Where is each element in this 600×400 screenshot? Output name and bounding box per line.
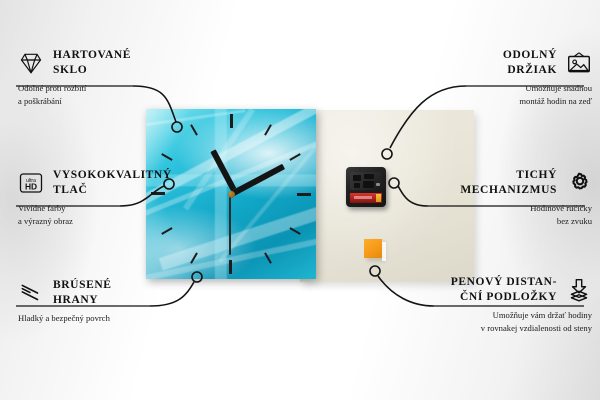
down-arrow-stack-icon bbox=[566, 277, 592, 303]
feature-ground-edges: BRÚSENÉ HRANY Hladký a bezpečný povrch bbox=[18, 278, 170, 325]
feature-description: Umožňuje vám držať hodiny v rovnakej vzd… bbox=[410, 309, 592, 333]
feature-title: VYSOKOKVALITNÝ TLAČ bbox=[53, 168, 172, 197]
feature-desc-line1: Umožňuje snadnou bbox=[525, 83, 592, 93]
feature-desc-line1: Umožňuje vám držať hodiny bbox=[493, 310, 592, 320]
diamond-icon bbox=[18, 50, 44, 76]
feature-description: Hodinové ručičky bez zvuku bbox=[426, 202, 592, 226]
feature-description: Vivídne farby a výrazný obraz bbox=[18, 202, 168, 226]
feature-desc-line1: Hladký a bezpečný povrch bbox=[18, 313, 110, 323]
feature-foam-spacers: PENOVÝ DISTAN- ČNÍ PODLOŽKY Umožňuje vám… bbox=[410, 275, 592, 334]
foam-spacer-pad bbox=[364, 239, 382, 258]
svg-text:HD: HD bbox=[25, 181, 37, 191]
picture-frame-icon bbox=[566, 50, 592, 76]
clock-center-pin bbox=[228, 191, 235, 198]
feature-title-line1: ODOLNÝ bbox=[503, 49, 557, 61]
feature-desc-line1: Hodinové ručičky bbox=[530, 203, 592, 213]
ultra-hd-icon: ultra HD bbox=[18, 170, 44, 196]
feature-desc-line2: v rovnakej vzdialenosti od steny bbox=[481, 323, 592, 333]
feature-title: ODOLNÝ DRŽIAK bbox=[503, 48, 557, 77]
feature-description: Umožňuje snadnou montáž hodin na zeď bbox=[426, 82, 592, 106]
feature-title-line2: DRŽIAK bbox=[507, 64, 557, 76]
feature-title-line2: TLAČ bbox=[53, 184, 87, 196]
movement-body bbox=[350, 172, 382, 190]
feature-desc-line1: Vivídne farby bbox=[18, 203, 65, 213]
feature-title: BRÚSENÉ HRANY bbox=[53, 278, 112, 307]
feature-title-line1: TICHÝ bbox=[516, 169, 557, 181]
feature-title: HARTOVANÉ SKLO bbox=[53, 48, 131, 77]
aa-battery bbox=[350, 193, 382, 203]
feature-desc-line1: Odolné proti rozbití bbox=[18, 83, 86, 93]
feature-title: PENOVÝ DISTAN- ČNÍ PODLOŽKY bbox=[451, 275, 557, 304]
feature-desc-line2: montáž hodin na zeď bbox=[519, 96, 592, 106]
feature-desc-line2: a poškrábání bbox=[18, 96, 62, 106]
feature-durable-holder: ODOLNÝ DRŽIAK Umožňuje snadnou montáž ho… bbox=[426, 48, 592, 107]
feature-description: Odolné proti rozbití a poškrábání bbox=[18, 82, 168, 106]
feature-title-line1: BRÚSENÉ bbox=[53, 279, 112, 291]
clock-second-hand bbox=[229, 193, 231, 255]
product-infographic: HARTOVANÉ SKLO Odolné proti rozbití a po… bbox=[0, 0, 600, 400]
feature-title-line2: SKLO bbox=[53, 64, 87, 76]
feature-description: Hladký a bezpečný povrch bbox=[18, 312, 170, 324]
ground-edge-icon bbox=[18, 280, 44, 306]
feature-title-line2: HRANY bbox=[53, 294, 98, 306]
feature-title: TICHÝ MECHANIZMUS bbox=[460, 168, 557, 197]
clock-tick bbox=[231, 193, 311, 195]
feature-desc-line2: a výrazný obraz bbox=[18, 216, 73, 226]
feature-high-quality-print: ultra HD VYSOKOKVALITNÝ TLAČ Vivídne far… bbox=[18, 168, 168, 227]
quartz-clock-movement bbox=[346, 167, 386, 207]
feature-silent-mechanism: TICHÝ MECHANIZMUS Hodinové ručičky bez z… bbox=[426, 168, 592, 227]
feature-title-line1: PENOVÝ DISTAN- bbox=[451, 276, 557, 288]
feature-title-line1: VYSOKOKVALITNÝ bbox=[53, 169, 172, 181]
feature-title-line2: ČNÍ PODLOŽKY bbox=[460, 291, 557, 303]
feature-tempered-glass: HARTOVANÉ SKLO Odolné proti rozbití a po… bbox=[18, 48, 168, 107]
feature-title-line2: MECHANIZMUS bbox=[460, 184, 557, 196]
feature-title-line1: HARTOVANÉ bbox=[53, 49, 131, 61]
movement-hanger bbox=[359, 167, 373, 171]
feature-desc-line2: bez zvuku bbox=[557, 216, 592, 226]
gear-icon bbox=[566, 170, 592, 196]
